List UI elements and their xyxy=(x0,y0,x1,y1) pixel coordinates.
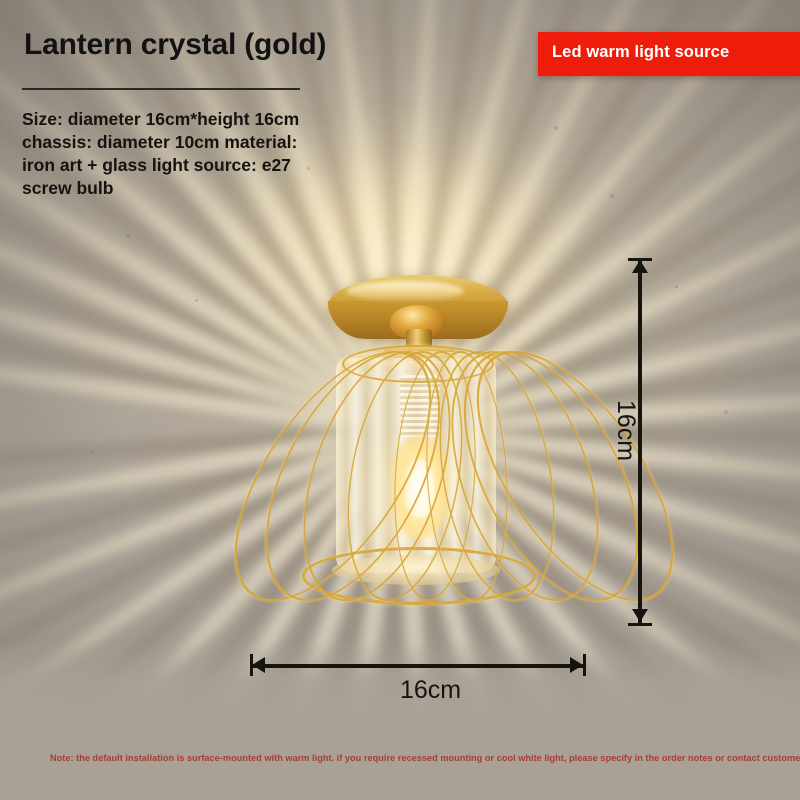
width-arrow-left xyxy=(252,657,265,673)
ceiling-speck xyxy=(610,194,614,198)
ceiling-lamp-fixture xyxy=(250,255,580,620)
badge-label: Led warm light source xyxy=(552,43,729,62)
width-label: 16cm xyxy=(400,676,461,705)
ceiling-speck xyxy=(675,285,678,288)
page-title: Lantern crystal (gold) xyxy=(24,28,326,62)
gold-wire-cage xyxy=(250,351,580,601)
product-image: Lantern crystal (gold) Size: diameter 16… xyxy=(0,0,800,800)
width-arrow-right xyxy=(570,657,583,673)
canopy-highlight xyxy=(346,281,464,301)
width-line xyxy=(250,664,585,668)
height-label: 16cm xyxy=(611,400,640,461)
height-arrow-up xyxy=(632,260,648,273)
ceiling-speck xyxy=(195,299,198,302)
title-underline xyxy=(22,88,300,90)
ceiling-speck xyxy=(724,410,728,414)
height-cap-bottom xyxy=(628,623,652,626)
ceiling-speck xyxy=(91,451,94,454)
status-badge: Led warm light source xyxy=(538,32,800,76)
ceiling-speck xyxy=(554,126,558,130)
product-description: Size: diameter 16cm*height 16cm chassis:… xyxy=(22,108,312,200)
height-arrow-down xyxy=(632,609,648,622)
installation-note: Note: the default installation is surfac… xyxy=(50,753,800,763)
ceiling-speck xyxy=(126,234,130,238)
width-cap-right xyxy=(583,654,586,676)
